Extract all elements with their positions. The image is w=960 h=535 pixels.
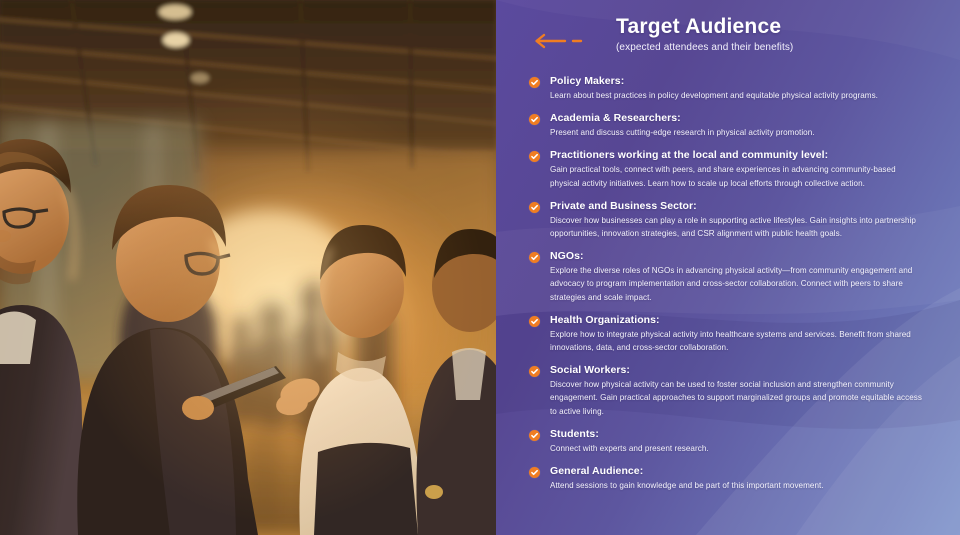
- page-title: Target Audience: [616, 14, 793, 40]
- item-heading: Social Workers:: [550, 363, 929, 377]
- check-circle-icon: [529, 316, 540, 327]
- list-item: Social Workers: Discover how physical ac…: [529, 363, 929, 418]
- list-item: Academia & Researchers: Present and disc…: [529, 111, 929, 139]
- conference-networking-photo: [0, 0, 496, 535]
- check-circle-icon: [529, 151, 540, 162]
- item-heading: Academia & Researchers:: [550, 111, 929, 125]
- item-heading: General Audience:: [550, 464, 929, 478]
- slide-root: Target Audience (expected attendees and …: [0, 0, 960, 535]
- item-heading: Policy Makers:: [550, 74, 929, 88]
- list-item: Health Organizations: Explore how to int…: [529, 313, 929, 354]
- title-block: Target Audience (expected attendees and …: [616, 14, 793, 55]
- check-circle-icon: [529, 430, 540, 441]
- item-heading: Students:: [550, 427, 929, 441]
- check-circle-icon: [529, 366, 540, 377]
- check-circle-icon: [529, 467, 540, 478]
- panel-header: Target Audience (expected attendees and …: [528, 14, 948, 62]
- item-heading: Private and Business Sector:: [550, 199, 929, 213]
- target-audience-panel: Target Audience (expected attendees and …: [496, 0, 960, 535]
- check-circle-icon: [529, 114, 540, 125]
- item-heading: Health Organizations:: [550, 313, 929, 327]
- check-circle-icon: [529, 202, 540, 213]
- item-description: Discover how physical activity can be us…: [550, 378, 926, 418]
- item-description: Present and discuss cutting-edge researc…: [550, 126, 926, 139]
- list-item: Private and Business Sector: Discover ho…: [529, 199, 929, 240]
- left-arrow-icon[interactable]: [528, 32, 584, 50]
- item-description: Discover how businesses can play a role …: [550, 214, 926, 240]
- list-item: NGOs: Explore the diverse roles of NGOs …: [529, 249, 929, 304]
- page-subtitle: (expected attendees and their benefits): [616, 41, 793, 55]
- list-item: Students: Connect with experts and prese…: [529, 427, 929, 455]
- item-description: Connect with experts and present researc…: [550, 442, 926, 455]
- item-heading: NGOs:: [550, 249, 929, 263]
- item-description: Explore how to integrate physical activi…: [550, 328, 926, 354]
- list-item: Practitioners working at the local and c…: [529, 148, 929, 189]
- check-circle-icon: [529, 77, 540, 88]
- item-description: Explore the diverse roles of NGOs in adv…: [550, 264, 926, 304]
- item-description: Attend sessions to gain knowledge and be…: [550, 479, 926, 492]
- list-item: Policy Makers: Learn about best practice…: [529, 74, 929, 102]
- list-item: General Audience: Attend sessions to gai…: [529, 464, 929, 492]
- item-description: Gain practical tools, connect with peers…: [550, 163, 926, 189]
- item-heading: Practitioners working at the local and c…: [550, 148, 929, 162]
- photo-illustration: [0, 0, 496, 535]
- item-description: Learn about best practices in policy dev…: [550, 89, 926, 102]
- check-circle-icon: [529, 252, 540, 263]
- audience-list: Policy Makers: Learn about best practice…: [529, 74, 929, 501]
